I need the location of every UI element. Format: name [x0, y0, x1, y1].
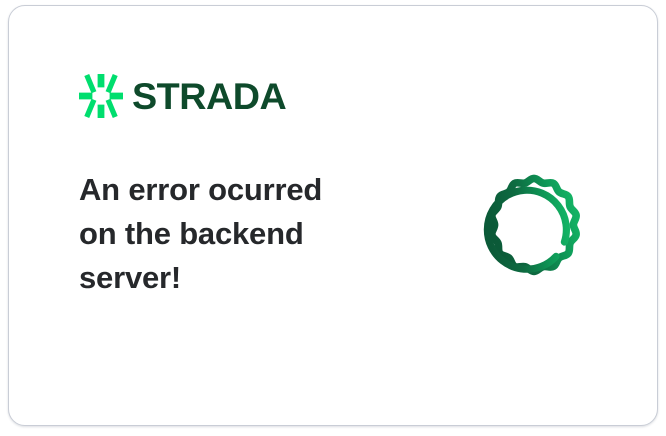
error-screen: STRADA An error ocurred on the backend s…: [0, 0, 666, 436]
error-illustration: [449, 140, 619, 310]
gear-cog-icon: [449, 140, 619, 310]
brand-wordmark: STRADA: [132, 78, 286, 115]
error-message-line-1: An error ocurred: [79, 168, 379, 212]
error-message-line-2: on the backend: [79, 212, 379, 256]
brand-lockup: STRADA: [79, 68, 283, 124]
error-message-line-3: server!: [79, 256, 379, 300]
strada-logo-mark: [79, 74, 123, 118]
asterisk-star-icon: [79, 74, 123, 118]
error-card: STRADA An error ocurred on the backend s…: [8, 5, 658, 426]
error-message: An error ocurred on the backend server!: [79, 168, 379, 300]
